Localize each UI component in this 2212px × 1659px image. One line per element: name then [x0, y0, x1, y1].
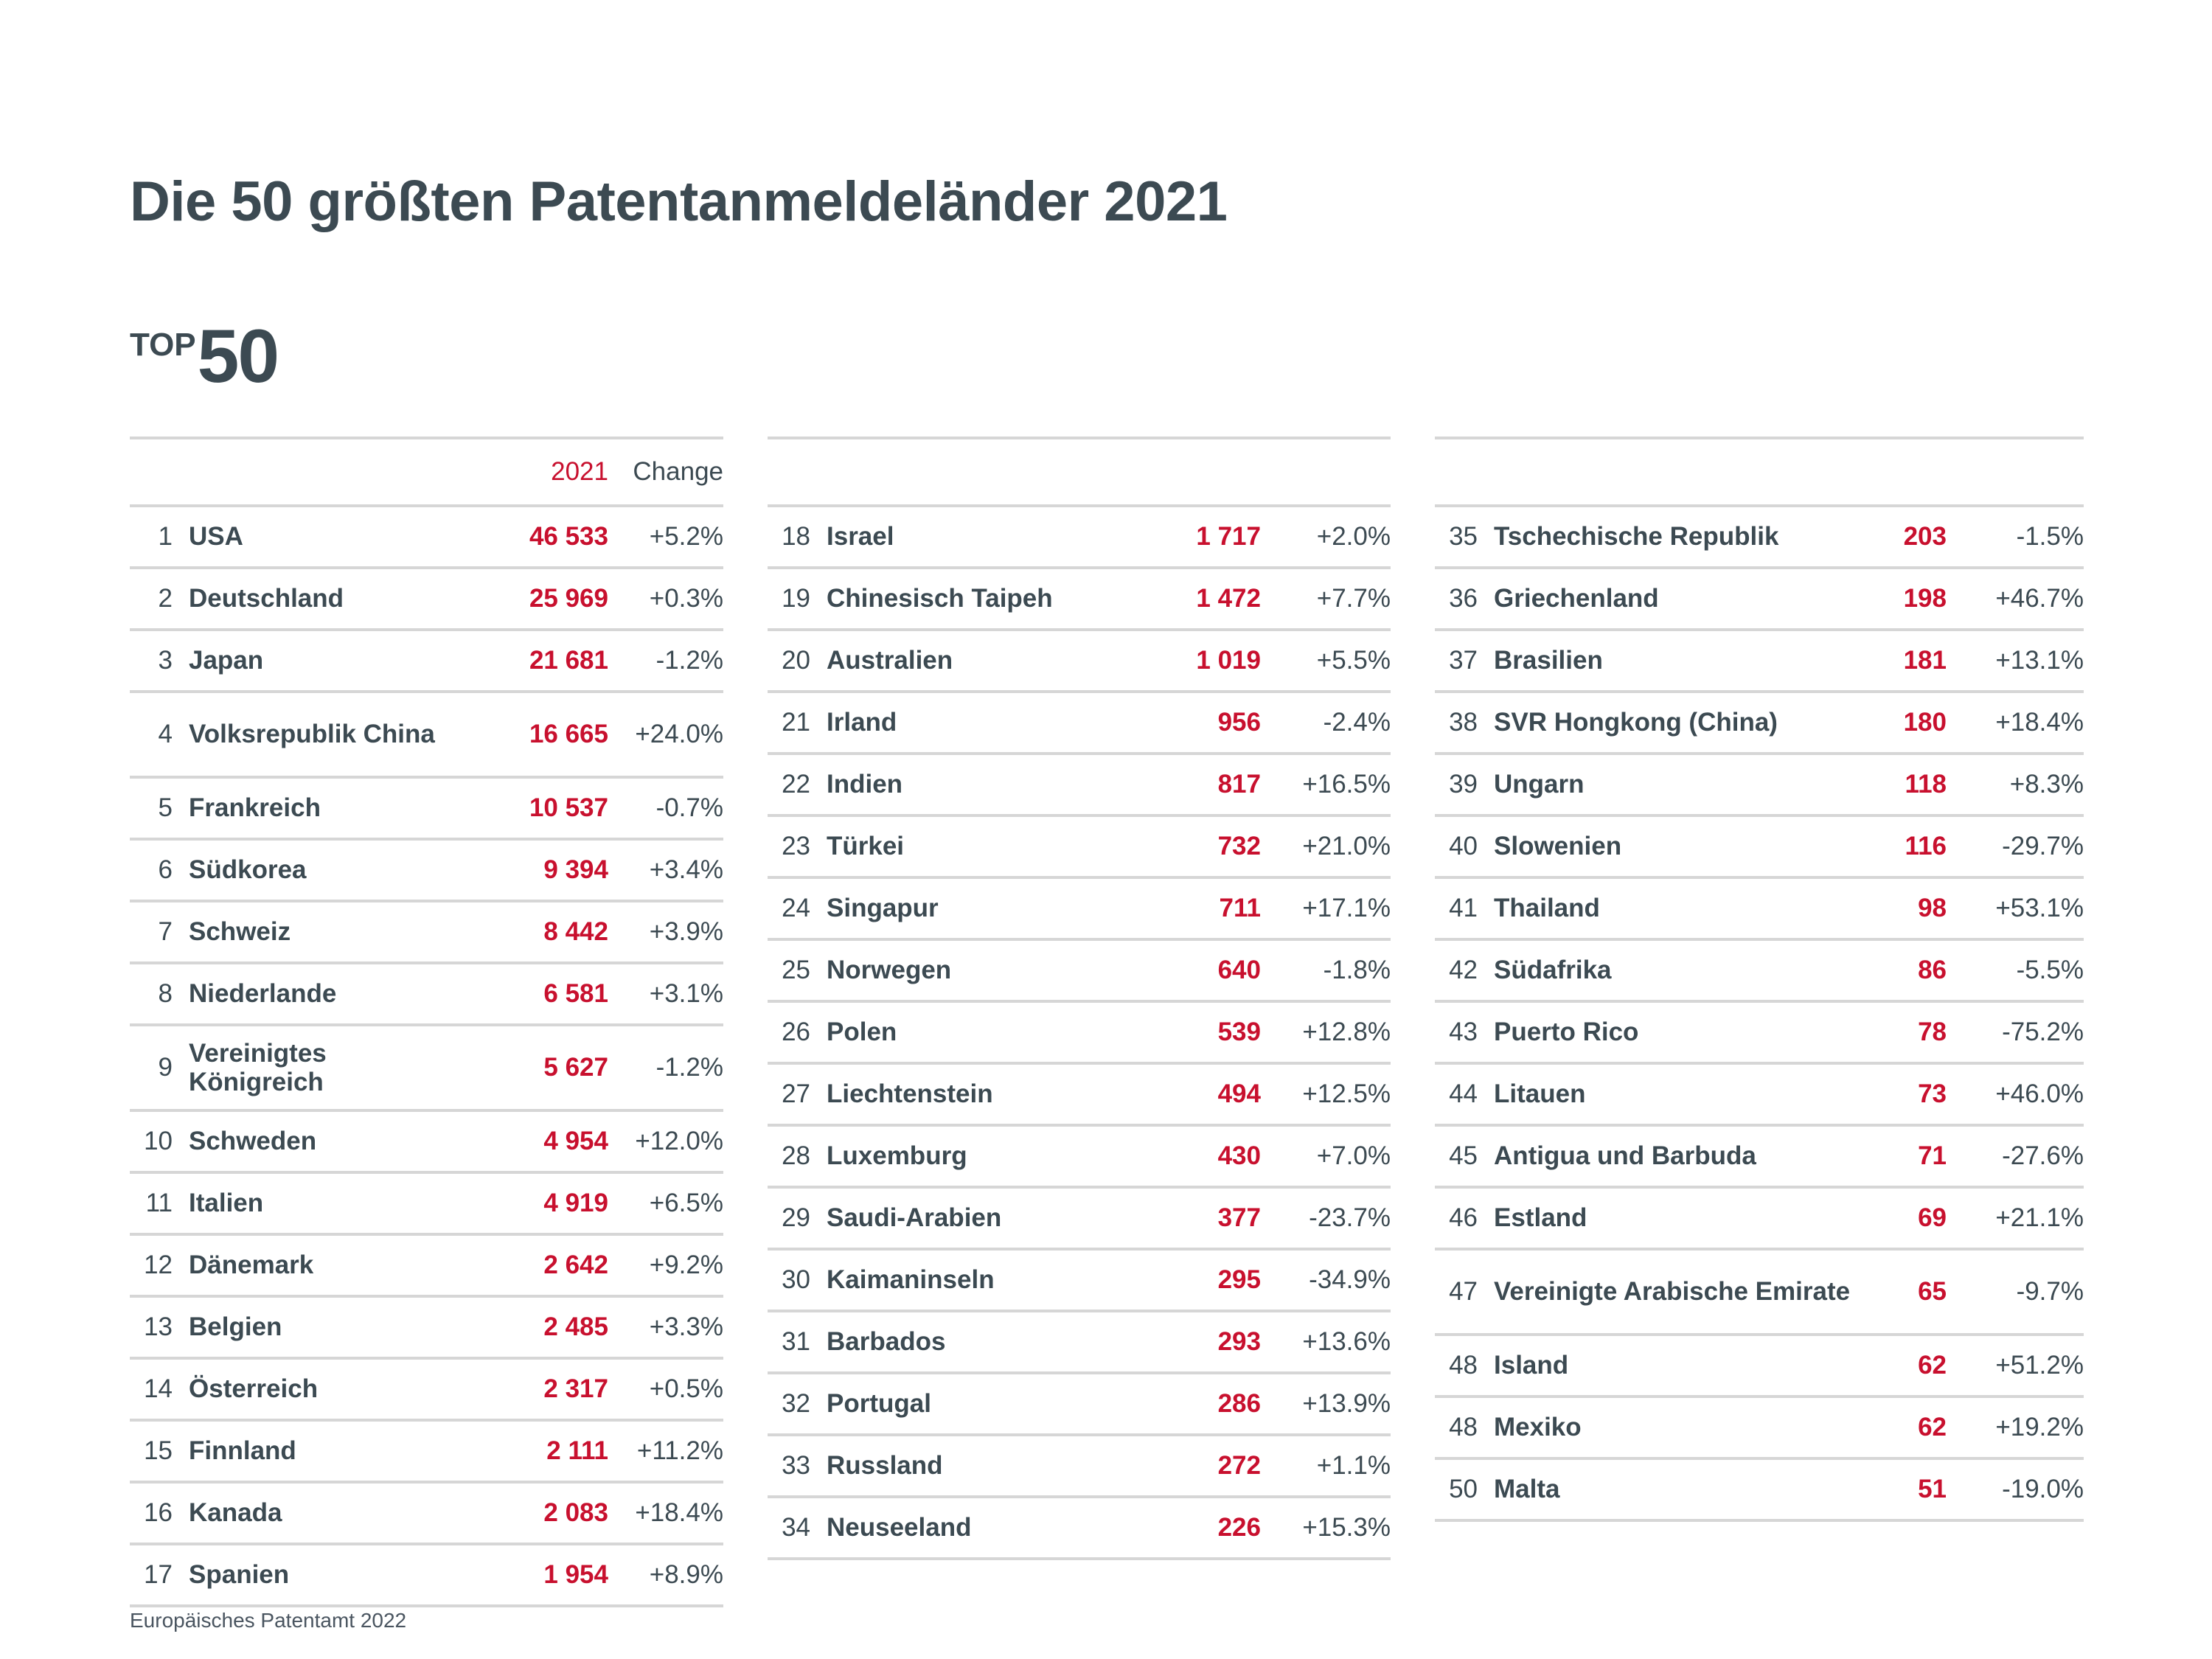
row-rank: 50 — [1435, 1458, 1494, 1520]
row-value-2021: 180 — [1863, 692, 1951, 754]
row-change: +13.9% — [1265, 1373, 1391, 1435]
row-country: Neuseeland — [827, 1497, 1136, 1559]
row-country: Türkei — [827, 815, 1136, 877]
row-rank: 48 — [1435, 1335, 1494, 1397]
row-rank: 21 — [768, 692, 827, 754]
top-badge-word: TOP — [130, 329, 196, 361]
row-value-2021: 98 — [1863, 877, 1951, 939]
row-country: SVR Hongkong (China) — [1494, 692, 1863, 754]
row-value-2021: 1 472 — [1136, 568, 1265, 630]
table-row: 19Chinesisch Taipeh1 472+7.7% — [768, 568, 1391, 630]
row-rank: 45 — [1435, 1125, 1494, 1187]
row-country: Südkorea — [189, 839, 469, 901]
table-row: 45Antigua und Barbuda71-27.6% — [1435, 1125, 2084, 1187]
row-rank: 30 — [768, 1249, 827, 1311]
row-change: -2.4% — [1265, 692, 1391, 754]
row-country: Frankreich — [189, 777, 469, 839]
table-row: 20Australien1 019+5.5% — [768, 630, 1391, 692]
ranking-column-3: 35Tschechische Republik203-1.5%36Grieche… — [1435, 437, 2084, 1607]
row-value-2021: 2 485 — [469, 1296, 613, 1358]
row-value-2021: 2 642 — [469, 1234, 613, 1296]
row-rank: 23 — [768, 815, 827, 877]
row-rank: 19 — [768, 568, 827, 630]
row-country: Singapur — [827, 877, 1136, 939]
row-value-2021: 8 442 — [469, 901, 613, 963]
row-country: Liechtenstein — [827, 1063, 1136, 1125]
row-country: Litauen — [1494, 1063, 1863, 1125]
row-change: +5.5% — [1265, 630, 1391, 692]
row-change: -1.2% — [613, 630, 723, 692]
row-country: Griechenland — [1494, 568, 1863, 630]
row-change: +7.7% — [1265, 568, 1391, 630]
page-title: Die 50 größten Patentanmeldeländer 2021 — [130, 174, 1227, 230]
ranking-column-1: 2021 Change 1USA46 533+5.2%2Deutschland2… — [130, 437, 723, 1607]
table-row: 8Niederlande6 581+3.1% — [130, 963, 723, 1025]
row-change: +13.1% — [1951, 630, 2084, 692]
row-rank: 7 — [130, 901, 189, 963]
table-row: 7Schweiz8 442+3.9% — [130, 901, 723, 963]
row-country: Dänemark — [189, 1234, 469, 1296]
header-spacer — [1136, 438, 1265, 506]
row-country: Israel — [827, 506, 1136, 568]
table-row: 24Singapur711+17.1% — [768, 877, 1391, 939]
row-change: -19.0% — [1951, 1458, 2084, 1520]
row-value-2021: 2 111 — [469, 1420, 613, 1482]
row-rank: 1 — [130, 506, 189, 568]
row-change: +0.5% — [613, 1358, 723, 1420]
row-rank: 43 — [1435, 1001, 1494, 1063]
row-value-2021: 71 — [1863, 1125, 1951, 1187]
table-row: 38SVR Hongkong (China)180+18.4% — [1435, 692, 2084, 754]
row-value-2021: 1 717 — [1136, 506, 1265, 568]
table-row: 44Litauen73+46.0% — [1435, 1063, 2084, 1125]
row-value-2021: 494 — [1136, 1063, 1265, 1125]
table-row: 47Vereinigte Arabische Emirate65-9.7% — [1435, 1249, 2084, 1335]
row-rank: 33 — [768, 1435, 827, 1497]
row-country: Portugal — [827, 1373, 1136, 1435]
row-country: Island — [1494, 1335, 1863, 1397]
row-change: -0.7% — [613, 777, 723, 839]
table-row: 13Belgien2 485+3.3% — [130, 1296, 723, 1358]
row-change: +15.3% — [1265, 1497, 1391, 1559]
row-country: Mexiko — [1494, 1397, 1863, 1458]
row-rank: 8 — [130, 963, 189, 1025]
row-rank: 17 — [130, 1544, 189, 1606]
table-header-row: 2021 Change — [130, 438, 723, 506]
table-row: 33Russland272+1.1% — [768, 1435, 1391, 1497]
header-spacer — [1951, 438, 2084, 506]
row-value-2021: 203 — [1863, 506, 1951, 568]
header-spacer — [130, 438, 189, 506]
row-value-2021: 640 — [1136, 939, 1265, 1001]
top-badge-number: 50 — [198, 319, 278, 394]
row-country: Irland — [827, 692, 1136, 754]
row-value-2021: 6 581 — [469, 963, 613, 1025]
row-value-2021: 539 — [1136, 1001, 1265, 1063]
row-rank: 39 — [1435, 754, 1494, 815]
row-country: Volksrepublik China — [189, 692, 469, 777]
source-footer: Europäisches Patentamt 2022 — [130, 1609, 406, 1632]
row-value-2021: 5 627 — [469, 1025, 613, 1110]
row-rank: 15 — [130, 1420, 189, 1482]
row-value-2021: 817 — [1136, 754, 1265, 815]
row-change: +6.5% — [613, 1172, 723, 1234]
table-row: 1USA46 533+5.2% — [130, 506, 723, 568]
row-value-2021: 16 665 — [469, 692, 613, 777]
row-value-2021: 73 — [1863, 1063, 1951, 1125]
ranking-table-1: 2021 Change 1USA46 533+5.2%2Deutschland2… — [130, 437, 723, 1607]
row-country: Schweiz — [189, 901, 469, 963]
row-country: Vereinigte Arabische Emirate — [1494, 1249, 1863, 1335]
table-row: 26Polen539+12.8% — [768, 1001, 1391, 1063]
row-country: Barbados — [827, 1311, 1136, 1373]
row-rank: 13 — [130, 1296, 189, 1358]
row-change: +5.2% — [613, 506, 723, 568]
row-change: +17.1% — [1265, 877, 1391, 939]
row-change: +21.1% — [1951, 1187, 2084, 1249]
table-row: 41Thailand98+53.1% — [1435, 877, 2084, 939]
row-value-2021: 25 969 — [469, 568, 613, 630]
ranking-table-3: 35Tschechische Republik203-1.5%36Grieche… — [1435, 437, 2084, 1522]
table-row: 11Italien4 919+6.5% — [130, 1172, 723, 1234]
row-value-2021: 293 — [1136, 1311, 1265, 1373]
row-change: +19.2% — [1951, 1397, 2084, 1458]
table-row: 9Vereinigtes Königreich5 627-1.2% — [130, 1025, 723, 1110]
row-change: -1.8% — [1265, 939, 1391, 1001]
row-change: -34.9% — [1265, 1249, 1391, 1311]
row-country: USA — [189, 506, 469, 568]
row-rank: 3 — [130, 630, 189, 692]
row-rank: 2 — [130, 568, 189, 630]
row-rank: 47 — [1435, 1249, 1494, 1335]
row-rank: 29 — [768, 1187, 827, 1249]
table-row: 31Barbados293+13.6% — [768, 1311, 1391, 1373]
table-row: 12Dänemark2 642+9.2% — [130, 1234, 723, 1296]
row-change: +51.2% — [1951, 1335, 2084, 1397]
table-row: 28Luxemburg430+7.0% — [768, 1125, 1391, 1187]
row-change: +9.2% — [613, 1234, 723, 1296]
row-rank: 27 — [768, 1063, 827, 1125]
row-value-2021: 78 — [1863, 1001, 1951, 1063]
row-country: Australien — [827, 630, 1136, 692]
row-change: +12.5% — [1265, 1063, 1391, 1125]
row-value-2021: 295 — [1136, 1249, 1265, 1311]
row-change: +8.9% — [613, 1544, 723, 1606]
row-rank: 38 — [1435, 692, 1494, 754]
row-country: Puerto Rico — [1494, 1001, 1863, 1063]
row-change: +0.3% — [613, 568, 723, 630]
row-change: -29.7% — [1951, 815, 2084, 877]
row-country: Tschechische Republik — [1494, 506, 1863, 568]
row-country: Vereinigtes Königreich — [189, 1025, 469, 1110]
header-change: Change — [613, 438, 723, 506]
row-value-2021: 51 — [1863, 1458, 1951, 1520]
header-spacer — [1494, 438, 1863, 506]
row-country: Saudi-Arabien — [827, 1187, 1136, 1249]
row-rank: 41 — [1435, 877, 1494, 939]
row-value-2021: 118 — [1863, 754, 1951, 815]
table-row: 16Kanada2 083+18.4% — [130, 1482, 723, 1544]
row-value-2021: 62 — [1863, 1397, 1951, 1458]
row-country: Schweden — [189, 1110, 469, 1172]
row-change: +7.0% — [1265, 1125, 1391, 1187]
row-country: Kaimaninseln — [827, 1249, 1136, 1311]
row-change: +2.0% — [1265, 506, 1391, 568]
table-row: 21Irland956-2.4% — [768, 692, 1391, 754]
row-country: Deutschland — [189, 568, 469, 630]
row-country: Chinesisch Taipeh — [827, 568, 1136, 630]
row-value-2021: 9 394 — [469, 839, 613, 901]
table-row: 40Slowenien116-29.7% — [1435, 815, 2084, 877]
row-rank: 32 — [768, 1373, 827, 1435]
row-rank: 28 — [768, 1125, 827, 1187]
table-row: 42Südafrika86-5.5% — [1435, 939, 2084, 1001]
row-country: Niederlande — [189, 963, 469, 1025]
header-spacer — [189, 438, 469, 506]
table-row: 2Deutschland25 969+0.3% — [130, 568, 723, 630]
table-row: 34Neuseeland226+15.3% — [768, 1497, 1391, 1559]
header-spacer — [768, 438, 827, 506]
ranking-column-2: 18Israel1 717+2.0%19Chinesisch Taipeh1 4… — [768, 437, 1391, 1607]
row-value-2021: 272 — [1136, 1435, 1265, 1497]
row-rank: 31 — [768, 1311, 827, 1373]
table-row: 10Schweden4 954+12.0% — [130, 1110, 723, 1172]
row-change: +21.0% — [1265, 815, 1391, 877]
ranking-rows-1: 1USA46 533+5.2%2Deutschland25 969+0.3%3J… — [130, 506, 723, 1606]
table-row: 23Türkei732+21.0% — [768, 815, 1391, 877]
row-change: +24.0% — [613, 692, 723, 777]
row-change: +11.2% — [613, 1420, 723, 1482]
row-value-2021: 198 — [1863, 568, 1951, 630]
header-year: 2021 — [469, 438, 613, 506]
row-rank: 16 — [130, 1482, 189, 1544]
row-value-2021: 116 — [1863, 815, 1951, 877]
row-change: -1.5% — [1951, 506, 2084, 568]
row-rank: 5 — [130, 777, 189, 839]
row-country: Malta — [1494, 1458, 1863, 1520]
row-value-2021: 4 954 — [469, 1110, 613, 1172]
header-spacer — [1265, 438, 1391, 506]
row-rank: 46 — [1435, 1187, 1494, 1249]
row-country: Slowenien — [1494, 815, 1863, 877]
row-change: +12.0% — [613, 1110, 723, 1172]
row-change: +3.4% — [613, 839, 723, 901]
row-rank: 48 — [1435, 1397, 1494, 1458]
row-change: -5.5% — [1951, 939, 2084, 1001]
row-rank: 40 — [1435, 815, 1494, 877]
row-change: +18.4% — [1951, 692, 2084, 754]
row-value-2021: 226 — [1136, 1497, 1265, 1559]
row-value-2021: 65 — [1863, 1249, 1951, 1335]
table-row: 48Island62+51.2% — [1435, 1335, 2084, 1397]
row-value-2021: 21 681 — [469, 630, 613, 692]
row-rank: 9 — [130, 1025, 189, 1110]
table-row: 36Griechenland198+46.7% — [1435, 568, 2084, 630]
row-change: -1.2% — [613, 1025, 723, 1110]
row-rank: 36 — [1435, 568, 1494, 630]
row-country: Antigua und Barbuda — [1494, 1125, 1863, 1187]
header-spacer — [1863, 438, 1951, 506]
row-value-2021: 1 019 — [1136, 630, 1265, 692]
ranking-table-2: 18Israel1 717+2.0%19Chinesisch Taipeh1 4… — [768, 437, 1391, 1560]
row-country: Brasilien — [1494, 630, 1863, 692]
row-change: +8.3% — [1951, 754, 2084, 815]
table-row: 37Brasilien181+13.1% — [1435, 630, 2084, 692]
row-rank: 10 — [130, 1110, 189, 1172]
header-spacer — [1435, 438, 1494, 506]
row-country: Österreich — [189, 1358, 469, 1420]
row-country: Spanien — [189, 1544, 469, 1606]
row-country: Japan — [189, 630, 469, 692]
row-rank: 18 — [768, 506, 827, 568]
table-row: 5Frankreich10 537-0.7% — [130, 777, 723, 839]
row-value-2021: 1 954 — [469, 1544, 613, 1606]
row-change: +53.1% — [1951, 877, 2084, 939]
row-rank: 14 — [130, 1358, 189, 1420]
table-row: 17Spanien1 954+8.9% — [130, 1544, 723, 1606]
row-country: Thailand — [1494, 877, 1863, 939]
row-value-2021: 86 — [1863, 939, 1951, 1001]
table-row: 6Südkorea9 394+3.4% — [130, 839, 723, 901]
row-rank: 12 — [130, 1234, 189, 1296]
row-change: +46.0% — [1951, 1063, 2084, 1125]
row-country: Finnland — [189, 1420, 469, 1482]
row-change: -23.7% — [1265, 1187, 1391, 1249]
table-row: 30Kaimaninseln295-34.9% — [768, 1249, 1391, 1311]
ranking-rows-3: 35Tschechische Republik203-1.5%36Grieche… — [1435, 506, 2084, 1520]
row-change: +1.1% — [1265, 1435, 1391, 1497]
row-change: -9.7% — [1951, 1249, 2084, 1335]
table-header-row-spacer — [768, 438, 1391, 506]
row-change: +3.1% — [613, 963, 723, 1025]
table-row: 50Malta51-19.0% — [1435, 1458, 2084, 1520]
row-value-2021: 430 — [1136, 1125, 1265, 1187]
table-row: 15Finnland2 111+11.2% — [130, 1420, 723, 1482]
table-row: 35Tschechische Republik203-1.5% — [1435, 506, 2084, 568]
row-country: Polen — [827, 1001, 1136, 1063]
row-rank: 11 — [130, 1172, 189, 1234]
row-country: Luxemburg — [827, 1125, 1136, 1187]
table-row: 3Japan21 681-1.2% — [130, 630, 723, 692]
row-country: Südafrika — [1494, 939, 1863, 1001]
row-country: Estland — [1494, 1187, 1863, 1249]
top-50-badge: TOP 50 — [130, 319, 278, 394]
table-row: 29Saudi-Arabien377-23.7% — [768, 1187, 1391, 1249]
row-change: +18.4% — [613, 1482, 723, 1544]
table-row: 22Indien817+16.5% — [768, 754, 1391, 815]
row-value-2021: 377 — [1136, 1187, 1265, 1249]
ranking-rows-2: 18Israel1 717+2.0%19Chinesisch Taipeh1 4… — [768, 506, 1391, 1559]
row-country: Indien — [827, 754, 1136, 815]
row-rank: 20 — [768, 630, 827, 692]
row-rank: 22 — [768, 754, 827, 815]
row-rank: 4 — [130, 692, 189, 777]
table-row: 39Ungarn118+8.3% — [1435, 754, 2084, 815]
ranking-columns: 2021 Change 1USA46 533+5.2%2Deutschland2… — [130, 437, 2084, 1607]
table-row: 32Portugal286+13.9% — [768, 1373, 1391, 1435]
row-country: Kanada — [189, 1482, 469, 1544]
row-rank: 44 — [1435, 1063, 1494, 1125]
table-header-row-spacer — [1435, 438, 2084, 506]
table-row: 18Israel1 717+2.0% — [768, 506, 1391, 568]
row-value-2021: 62 — [1863, 1335, 1951, 1397]
row-value-2021: 711 — [1136, 877, 1265, 939]
row-country: Italien — [189, 1172, 469, 1234]
row-rank: 6 — [130, 839, 189, 901]
table-row: 48Mexiko62+19.2% — [1435, 1397, 2084, 1458]
row-value-2021: 732 — [1136, 815, 1265, 877]
row-change: +3.3% — [613, 1296, 723, 1358]
row-value-2021: 46 533 — [469, 506, 613, 568]
table-row: 14Österreich2 317+0.5% — [130, 1358, 723, 1420]
row-change: +16.5% — [1265, 754, 1391, 815]
table-row: 4Volksrepublik China16 665+24.0% — [130, 692, 723, 777]
row-change: +46.7% — [1951, 568, 2084, 630]
table-row: 43Puerto Rico78-75.2% — [1435, 1001, 2084, 1063]
row-value-2021: 2 317 — [469, 1358, 613, 1420]
row-country: Ungarn — [1494, 754, 1863, 815]
infographic-page: Die 50 größten Patentanmeldeländer 2021 … — [0, 0, 2212, 1659]
row-rank: 34 — [768, 1497, 827, 1559]
row-value-2021: 4 919 — [469, 1172, 613, 1234]
row-rank: 42 — [1435, 939, 1494, 1001]
row-rank: 25 — [768, 939, 827, 1001]
row-value-2021: 2 083 — [469, 1482, 613, 1544]
row-value-2021: 10 537 — [469, 777, 613, 839]
row-rank: 24 — [768, 877, 827, 939]
row-rank: 35 — [1435, 506, 1494, 568]
row-rank: 37 — [1435, 630, 1494, 692]
row-country: Norwegen — [827, 939, 1136, 1001]
row-rank: 26 — [768, 1001, 827, 1063]
row-value-2021: 956 — [1136, 692, 1265, 754]
row-change: -75.2% — [1951, 1001, 2084, 1063]
header-spacer — [827, 438, 1136, 506]
row-value-2021: 286 — [1136, 1373, 1265, 1435]
row-value-2021: 69 — [1863, 1187, 1951, 1249]
row-change: -27.6% — [1951, 1125, 2084, 1187]
table-row: 25Norwegen640-1.8% — [768, 939, 1391, 1001]
row-change: +13.6% — [1265, 1311, 1391, 1373]
row-country: Russland — [827, 1435, 1136, 1497]
row-country: Belgien — [189, 1296, 469, 1358]
table-row: 27Liechtenstein494+12.5% — [768, 1063, 1391, 1125]
row-change: +12.8% — [1265, 1001, 1391, 1063]
row-value-2021: 181 — [1863, 630, 1951, 692]
row-change: +3.9% — [613, 901, 723, 963]
table-row: 46Estland69+21.1% — [1435, 1187, 2084, 1249]
